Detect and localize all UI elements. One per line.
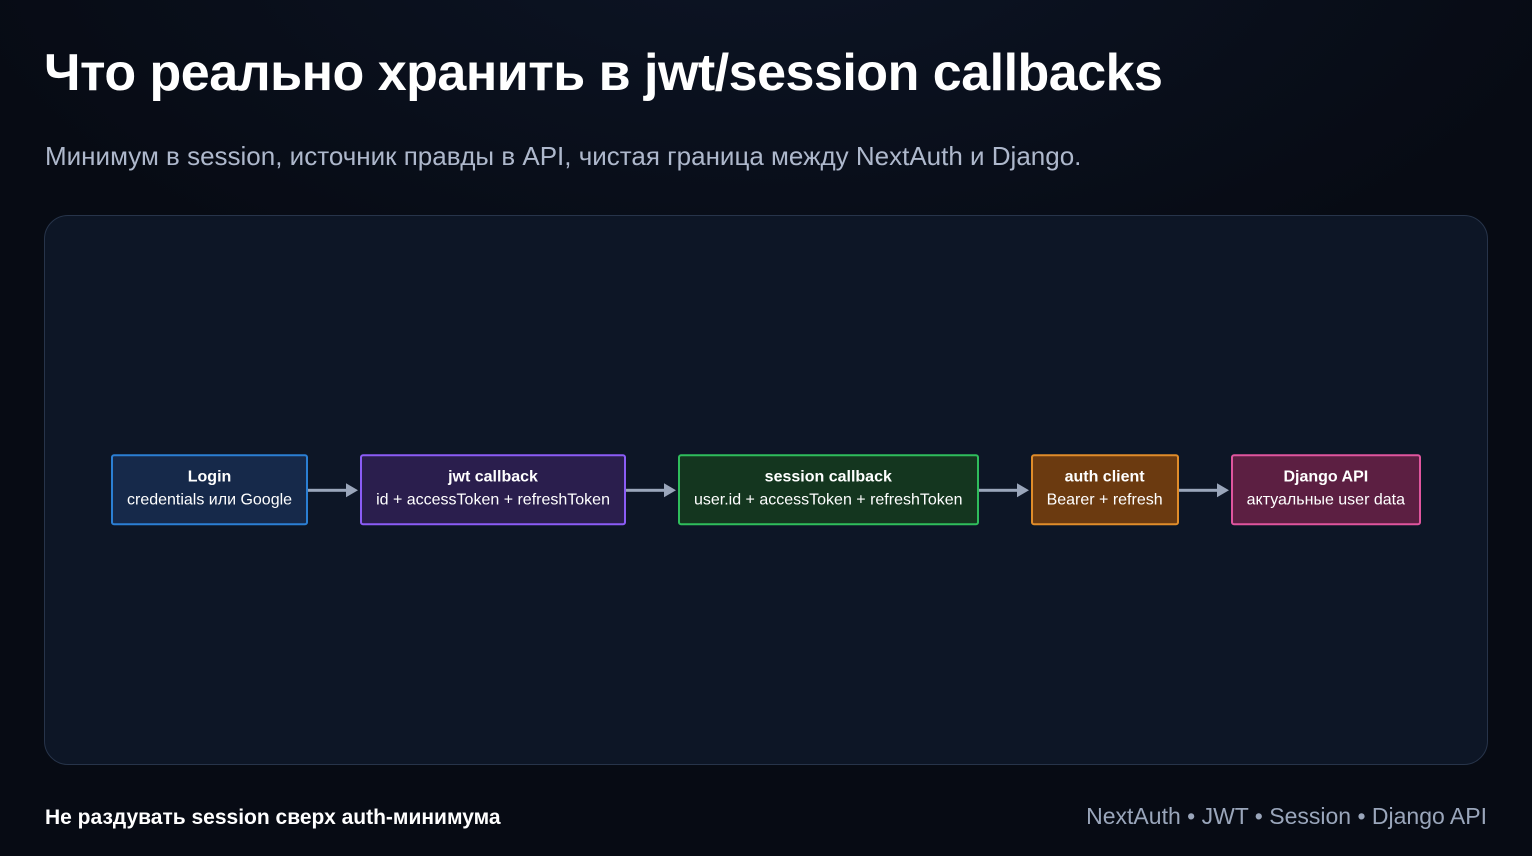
arrow-head-icon (346, 483, 358, 497)
arrow-head-icon (1017, 483, 1029, 497)
footer-takeaway: Не раздувать session сверх auth-минимума (45, 806, 501, 830)
diagram-card: Login credentials или Google jwt callbac… (44, 215, 1488, 765)
arrow-shaft (626, 488, 666, 491)
flow-node-auth-client-detail: Bearer + refresh (1047, 489, 1163, 511)
page-subtitle: Минимум в session, источник правды в API… (45, 140, 1081, 174)
arrow-shaft (1179, 488, 1219, 491)
arrow-head-icon (664, 483, 676, 497)
flow-arrow-2 (626, 483, 678, 497)
flow-arrow-3 (979, 483, 1031, 497)
flow-node-django-api-detail: актуальные user data (1247, 489, 1405, 511)
flow-node-jwt-callback[interactable]: jwt callback id + accessToken + refreshT… (360, 454, 626, 525)
arrow-shaft (308, 488, 348, 491)
flow-arrow-1 (308, 483, 360, 497)
flow-node-session-callback[interactable]: session callback user.id + accessToken +… (678, 454, 979, 525)
arrow-head-icon (1217, 483, 1229, 497)
flow-node-auth-client-title: auth client (1047, 467, 1163, 488)
flow-diagram: Login credentials или Google jwt callbac… (45, 454, 1487, 525)
flow-node-jwt-callback-title: jwt callback (376, 467, 610, 488)
flow-node-login-detail: credentials или Google (127, 489, 292, 511)
footer-tags: NextAuth • JWT • Session • Django API (1086, 803, 1487, 830)
flow-node-jwt-callback-detail: id + accessToken + refreshToken (376, 489, 610, 511)
flow-node-django-api-title: Django API (1247, 467, 1405, 488)
slide-root: Что реально хранить в jwt/session callba… (0, 0, 1532, 856)
flow-node-login[interactable]: Login credentials или Google (111, 454, 308, 525)
arrow-shaft (979, 488, 1019, 491)
flow-arrow-4 (1179, 483, 1231, 497)
flow-node-session-callback-detail: user.id + accessToken + refreshToken (694, 489, 963, 511)
page-title: Что реально хранить в jwt/session callba… (44, 44, 1464, 102)
flow-node-login-title: Login (127, 467, 292, 488)
flow-node-auth-client[interactable]: auth client Bearer + refresh (1031, 454, 1179, 525)
flow-node-session-callback-title: session callback (694, 467, 963, 488)
flow-node-django-api[interactable]: Django API актуальные user data (1231, 454, 1421, 525)
